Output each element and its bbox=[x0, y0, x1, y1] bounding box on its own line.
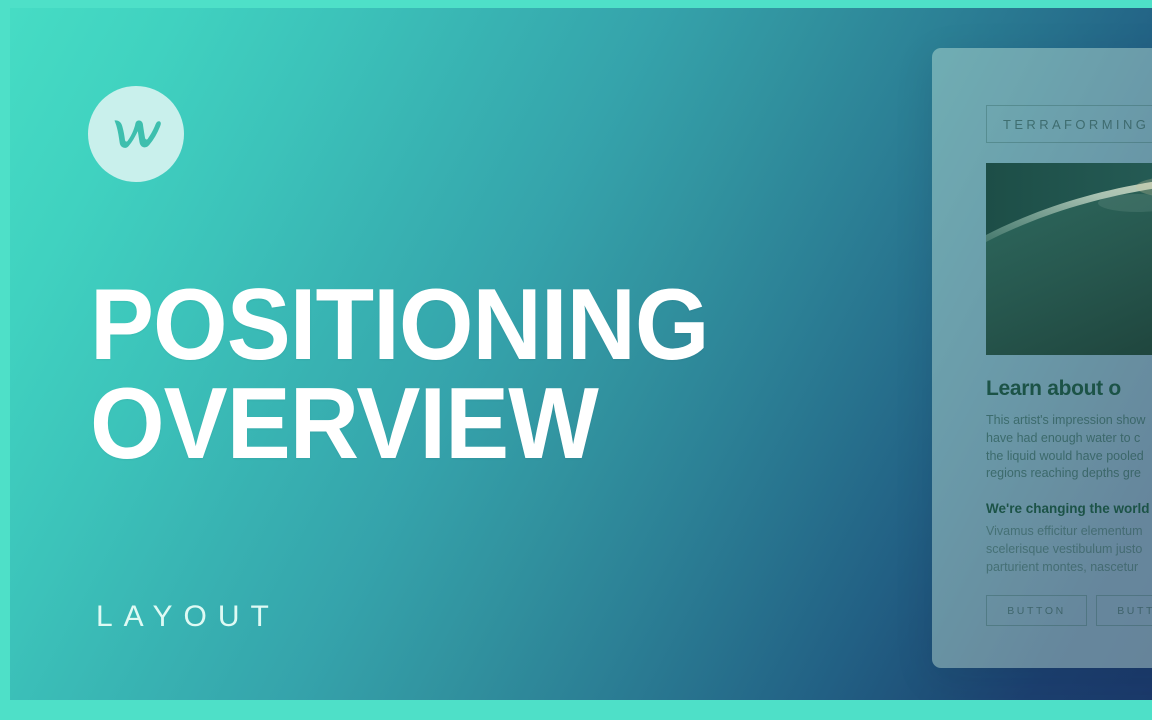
card-paragraph-line: This artist's impression show bbox=[986, 412, 1152, 430]
card-button-group: BUTTON BUTTON bbox=[986, 595, 1152, 626]
card-paragraph-line: Vivamus efficitur elementum bbox=[986, 523, 1152, 541]
webflow-logo-icon bbox=[110, 117, 162, 151]
title-line-2: OVERVIEW bbox=[90, 375, 850, 474]
card-paragraph-line: scelerisque vestibulum justo bbox=[986, 541, 1152, 559]
card-content: TERRAFORMING bbox=[986, 48, 1152, 626]
terraforming-tag-label: TERRAFORMING bbox=[1003, 117, 1149, 132]
title-line-1: POSITIONING bbox=[90, 276, 850, 375]
card-heading: Learn about o bbox=[986, 377, 1152, 401]
card-paragraph-line: have had enough water to c bbox=[986, 430, 1152, 448]
card-subheading: We're changing the world bbox=[986, 501, 1152, 516]
terraforming-tag: TERRAFORMING bbox=[986, 105, 1152, 143]
website-mockup-card: TERRAFORMING bbox=[932, 48, 1152, 668]
slide-frame: POSITIONING OVERVIEW LAYOUT TERRAFORMING bbox=[0, 0, 1152, 720]
card-paragraph-line: parturient montes, nascetur bbox=[986, 559, 1152, 577]
webflow-logo-badge bbox=[88, 86, 184, 182]
gradient-stage: POSITIONING OVERVIEW LAYOUT TERRAFORMING bbox=[10, 8, 1152, 700]
card-paragraph: This artist's impression show have had e… bbox=[986, 412, 1152, 483]
card-paragraph-line: regions reaching depths gre bbox=[986, 465, 1152, 483]
planet-horizon-image bbox=[986, 163, 1152, 355]
page-title: POSITIONING OVERVIEW bbox=[90, 276, 850, 474]
card-paragraph-secondary: Vivamus efficitur elementum scelerisque … bbox=[986, 523, 1152, 576]
card-paragraph-line: the liquid would have pooled bbox=[986, 448, 1152, 466]
card-button-secondary[interactable]: BUTTON bbox=[1096, 595, 1152, 626]
category-label: LAYOUT bbox=[96, 600, 280, 634]
card-button-primary[interactable]: BUTTON bbox=[986, 595, 1087, 626]
